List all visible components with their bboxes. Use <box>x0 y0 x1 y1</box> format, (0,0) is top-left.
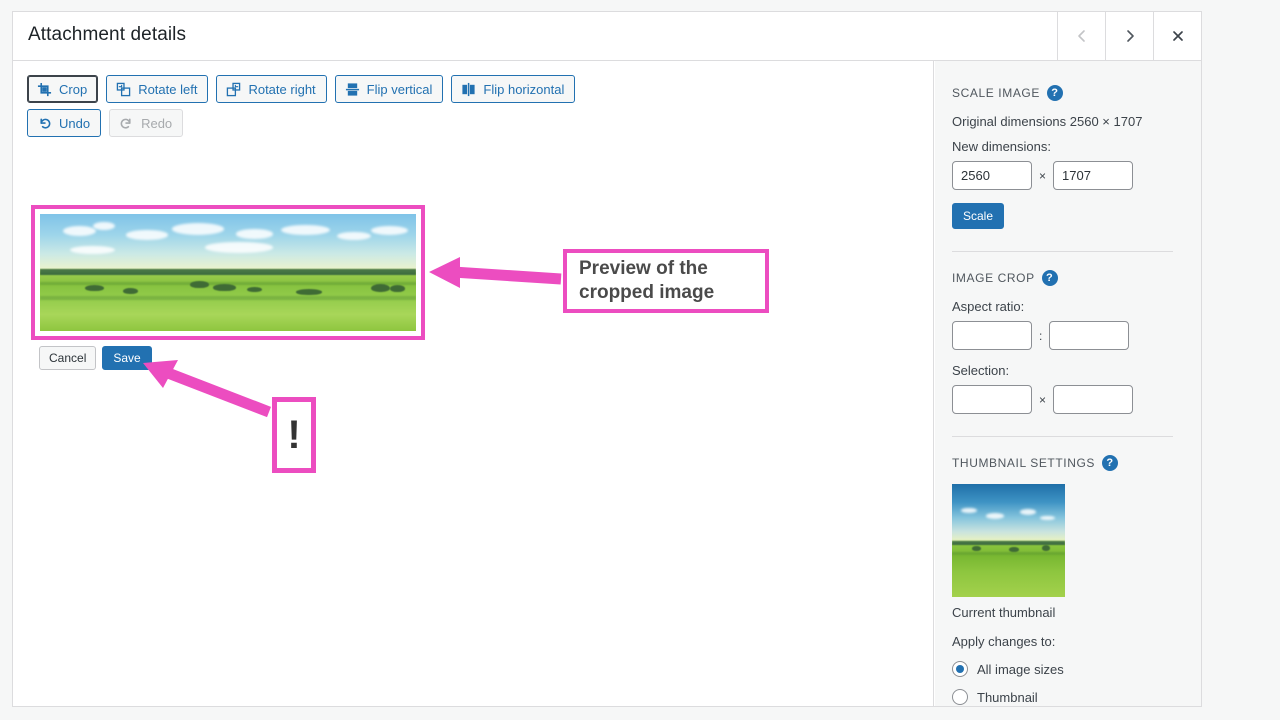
section-divider <box>952 436 1173 437</box>
rotate-right-icon <box>226 82 241 97</box>
original-dimensions-text: Original dimensions 2560 × 1707 <box>952 114 1185 129</box>
help-icon[interactable]: ? <box>1042 270 1058 286</box>
dimension-separator: × <box>1039 169 1046 183</box>
header-navigation <box>1057 12 1201 60</box>
page-title: Attachment details <box>28 24 186 46</box>
aspect-ratio-label: Aspect ratio: <box>952 299 1185 314</box>
help-icon[interactable]: ? <box>1047 85 1063 101</box>
preview-callout-box: Preview of the cropped image <box>563 249 769 313</box>
warning-callout-text: ! <box>287 415 300 455</box>
flip-vertical-icon <box>345 82 360 97</box>
apply-changes-label: Apply changes to: <box>952 634 1185 649</box>
editor-action-row: Cancel Save <box>39 346 152 370</box>
new-dimensions-row: × <box>952 161 1185 190</box>
selection-row: × <box>952 385 1185 414</box>
flip-vertical-button[interactable]: Flip vertical <box>335 75 444 103</box>
save-arrow <box>143 360 269 412</box>
scale-button[interactable]: Scale <box>952 203 1004 229</box>
flip-horizontal-label: Flip horizontal <box>483 83 564 96</box>
aspect-ratio-width-input[interactable] <box>952 321 1032 350</box>
flip-horizontal-button[interactable]: Flip horizontal <box>451 75 575 103</box>
image-editor-pane: Crop Rotate left <box>13 61 934 706</box>
help-icon[interactable]: ? <box>1102 455 1118 471</box>
flip-horizontal-icon <box>461 82 476 97</box>
crop-icon <box>37 82 52 97</box>
attachment-details-modal: Attachment details <box>12 11 1202 707</box>
radio-thumbnail[interactable]: Thumbnail <box>952 689 1185 705</box>
undo-button[interactable]: Undo <box>27 109 101 137</box>
annotation-arrows <box>13 61 934 706</box>
next-attachment-button[interactable] <box>1105 12 1153 60</box>
rotate-right-label: Rotate right <box>248 83 315 96</box>
preview-arrow <box>429 257 561 288</box>
redo-button[interactable]: Redo <box>109 109 183 137</box>
image-edit-toolbar: Crop Rotate left <box>27 75 907 143</box>
radio-label: All image sizes <box>977 662 1064 677</box>
cropped-image-preview-highlight <box>31 205 425 340</box>
current-thumbnail-image <box>952 484 1065 597</box>
selection-label: Selection: <box>952 363 1185 378</box>
undo-label: Undo <box>59 117 90 130</box>
selection-height-input[interactable] <box>1053 385 1133 414</box>
preview-callout-text: Preview of the cropped image <box>579 257 765 305</box>
aspect-ratio-separator: : <box>1039 329 1042 343</box>
cancel-button[interactable]: Cancel <box>39 346 96 370</box>
undo-icon <box>37 116 52 131</box>
aspect-ratio-row: : <box>952 321 1185 350</box>
rotate-left-icon <box>116 82 131 97</box>
rotate-left-button[interactable]: Rotate left <box>106 75 208 103</box>
radio-button-icon[interactable] <box>952 661 968 677</box>
scale-image-section-title: SCALE IMAGE ? <box>952 85 1185 101</box>
previous-attachment-button[interactable] <box>1057 12 1105 60</box>
chevron-right-icon <box>1123 29 1137 43</box>
close-icon <box>1171 29 1185 43</box>
modal-header: Attachment details <box>13 12 1201 61</box>
scale-image-title-text: SCALE IMAGE <box>952 86 1040 100</box>
new-dimensions-label: New dimensions: <box>952 139 1185 154</box>
warning-callout-box: ! <box>272 397 316 473</box>
thumbnail-caption: Current thumbnail <box>952 605 1185 620</box>
scale-width-input[interactable] <box>952 161 1032 190</box>
image-crop-section-title: IMAGE CROP ? <box>952 270 1185 286</box>
chevron-left-icon <box>1075 29 1089 43</box>
toolbar-row-transform: Crop Rotate left <box>27 75 907 103</box>
cropped-image-preview[interactable] <box>40 214 416 331</box>
redo-icon <box>119 116 134 131</box>
image-crop-title-text: IMAGE CROP <box>952 271 1035 285</box>
redo-label: Redo <box>141 117 172 130</box>
modal-body: Crop Rotate left <box>13 61 1201 706</box>
scale-height-input[interactable] <box>1053 161 1133 190</box>
thumbnail-settings-title-text: THUMBNAIL SETTINGS <box>952 456 1095 470</box>
radio-all-image-sizes[interactable]: All image sizes <box>952 661 1185 677</box>
radio-label: Thumbnail <box>977 690 1038 705</box>
crop-button[interactable]: Crop <box>27 75 98 103</box>
section-divider <box>952 251 1173 252</box>
close-modal-button[interactable] <box>1153 12 1201 60</box>
crop-button-label: Crop <box>59 83 87 96</box>
selection-separator: × <box>1039 393 1046 407</box>
radio-button-icon[interactable] <box>952 689 968 705</box>
rotate-right-button[interactable]: Rotate right <box>216 75 326 103</box>
image-settings-pane: SCALE IMAGE ? Original dimensions 2560 ×… <box>935 61 1201 706</box>
save-button[interactable]: Save <box>102 346 151 370</box>
aspect-ratio-height-input[interactable] <box>1049 321 1129 350</box>
rotate-left-label: Rotate left <box>138 83 197 96</box>
toolbar-row-history: Undo Redo <box>27 109 907 137</box>
selection-width-input[interactable] <box>952 385 1032 414</box>
thumbnail-settings-section-title: THUMBNAIL SETTINGS ? <box>952 455 1185 471</box>
flip-vertical-label: Flip vertical <box>367 83 433 96</box>
